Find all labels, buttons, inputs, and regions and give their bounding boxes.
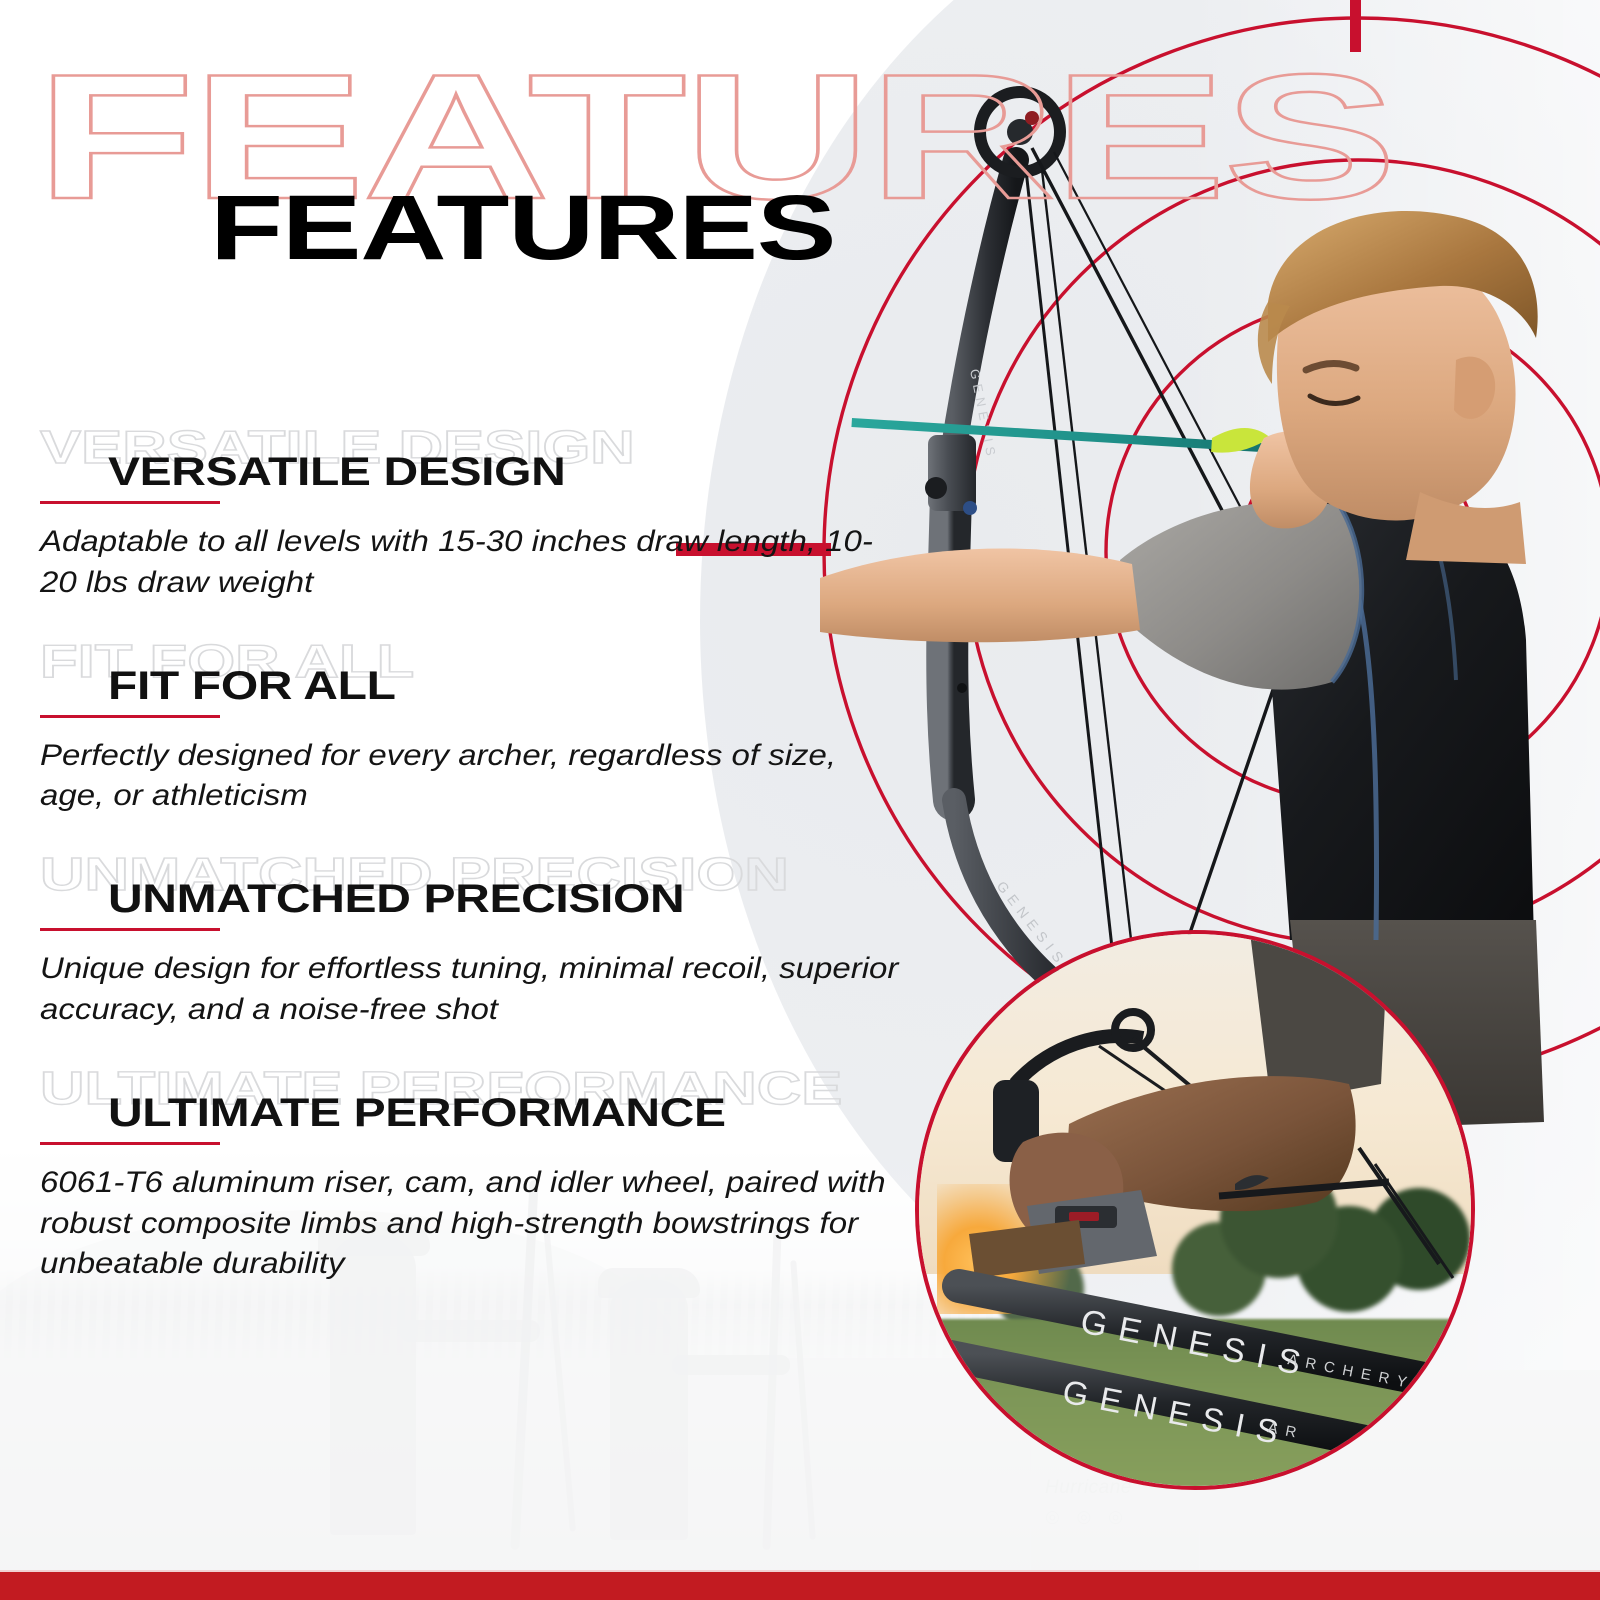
feature-underline [40, 715, 220, 718]
feature-item: ULTIMATE PERFORMANCE ULTIMATE PERFORMANC… [40, 1065, 940, 1285]
bow-accent-dot [963, 501, 977, 515]
boy-sleeve [1120, 501, 1362, 689]
feature-item: UNMATCHED PRECISION UNMATCHED PRECISION … [40, 851, 940, 1031]
inset-bow-svg: GENESIS ARCHERY GENESIS AR [919, 934, 1475, 1490]
boy-neck [1406, 492, 1526, 564]
feature-title: ULTIMATE PERFORMANCE [108, 1065, 1106, 1133]
feature-item: FIT FOR ALL FIT FOR ALL Perfectly design… [40, 638, 940, 818]
inset-string-c [1359, 1148, 1439, 1264]
feature-description: Unique design for effortless tuning, min… [40, 949, 909, 1031]
feature-underline [40, 1142, 220, 1145]
feature-title: FIT FOR ALL [108, 638, 1106, 706]
feature-item: VERSATILE DESIGN VERSATILE DESIGN Adapta… [40, 424, 940, 604]
feature-underline [40, 501, 220, 504]
feature-title: UNMATCHED PRECISION [108, 851, 1106, 919]
feature-description: 6061-T6 aluminum riser, cam, and idler w… [40, 1163, 909, 1285]
feature-underline [40, 928, 220, 931]
inset-brand-2: GENESIS [1060, 1373, 1294, 1453]
feature-title: VERSATILE DESIGN [108, 424, 1106, 492]
page-title: FEATURES [210, 182, 835, 274]
bottom-accent-bar [0, 1572, 1600, 1600]
inset-photo-circle: GENESIS ARCHERY GENESIS AR [915, 930, 1475, 1490]
feature-description: Perfectly designed for every archer, reg… [40, 736, 909, 818]
feature-description: Adaptable to all levels with 15-30 inche… [40, 522, 909, 604]
inset-brand-1: GENESIS [1077, 1303, 1315, 1385]
features-list: VERSATILE DESIGN VERSATILE DESIGN Adapta… [40, 424, 940, 1319]
infographic-canvas: Hurricane ◎ ◎ ◎ [0, 0, 1600, 1600]
